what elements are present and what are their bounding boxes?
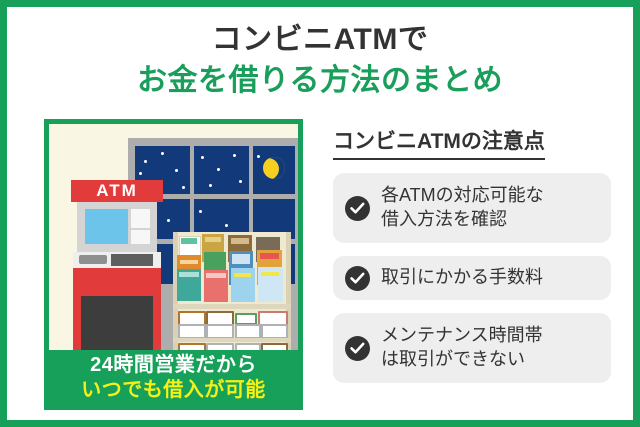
- notes-column: コンビニATMの注意点 各ATMの対応可能な 借入方法を確認 取引にかかる手数料: [333, 125, 613, 383]
- note-card: メンテナンス時間帯 は取引ができない: [333, 313, 611, 383]
- note-card: 取引にかかる手数料: [333, 256, 611, 300]
- star-icon: [175, 169, 178, 172]
- caption-line-1: 24時間営業だから: [49, 353, 298, 378]
- star-icon: [182, 186, 185, 189]
- page-title: コンビニATMで お金を借りる方法のまとめ: [7, 21, 633, 100]
- magazine-band: [205, 237, 221, 242]
- shelf-product: [235, 324, 261, 339]
- star-icon: [139, 172, 142, 175]
- note-text: メンテナンス時間帯 は取引ができない: [381, 324, 543, 372]
- magazine-band: [261, 272, 279, 276]
- star-icon: [199, 210, 202, 213]
- star-icon: [217, 168, 220, 171]
- star-icon: [201, 156, 204, 159]
- magazine-band: [179, 272, 199, 277]
- star-icon: [209, 184, 212, 187]
- atm-screen: [85, 209, 128, 244]
- notes-heading: コンビニATMの注意点: [333, 125, 545, 160]
- note-text: 各ATMの対応可能な 借入方法を確認: [381, 184, 544, 232]
- star-icon: [144, 160, 147, 163]
- magazine-band: [260, 253, 279, 259]
- note-card: 各ATMの対応可能な 借入方法を確認: [333, 173, 611, 243]
- atm-keypad: [111, 254, 153, 266]
- magazine-band: [234, 273, 251, 277]
- atm-sign-label: ATM: [71, 180, 163, 202]
- check-circle-icon: [345, 336, 370, 361]
- moon-icon: [263, 157, 285, 179]
- atm-cash-tray: [79, 255, 107, 264]
- caption-line-2: いつでも借入が可能: [49, 378, 298, 403]
- star-icon: [239, 180, 242, 183]
- illustration-caption: 24時間営業だから いつでも借入が可能: [49, 350, 298, 405]
- atm-side-panel-upper: [131, 209, 150, 228]
- store-scene: ATM: [49, 124, 298, 350]
- star-icon: [225, 224, 228, 227]
- title-line-2: お金を借りる方法のまとめ: [7, 61, 633, 100]
- magazine-band: [231, 238, 249, 244]
- infographic-page: コンビニATMで お金を借りる方法のまとめ: [0, 0, 640, 427]
- check-circle-icon: [345, 266, 370, 291]
- atm-base: [73, 268, 161, 294]
- star-icon: [161, 152, 164, 155]
- shelf: [173, 304, 291, 309]
- star-icon: [257, 155, 260, 158]
- shelf-product: [261, 324, 288, 339]
- magazine-band: [206, 273, 226, 278]
- illustration-panel: ATM 24時間営業だから いつでも借入が可能: [44, 119, 303, 410]
- note-text: 取引にかかる手数料: [381, 266, 543, 290]
- shelf-product: [178, 324, 206, 339]
- magazine-band: [232, 254, 250, 264]
- star-icon: [167, 219, 170, 222]
- atm-pedestal-recess: [81, 296, 153, 350]
- magazine-band: [181, 238, 197, 244]
- shelf: [173, 338, 291, 342]
- shelf-product: [206, 324, 234, 339]
- atm-side-panel-lower: [131, 230, 150, 244]
- star-icon: [233, 154, 236, 157]
- night-window: [194, 146, 249, 194]
- check-circle-icon: [345, 196, 370, 221]
- title-line-1: コンビニATMで: [7, 21, 633, 59]
- magazine-band: [180, 260, 198, 264]
